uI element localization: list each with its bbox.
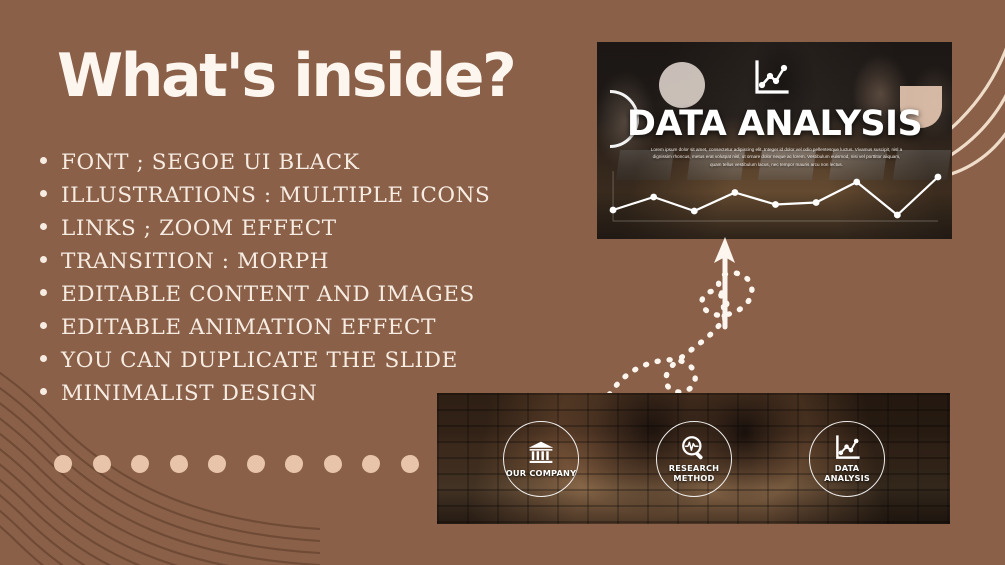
decorative-dot xyxy=(93,455,111,473)
decorative-dot xyxy=(285,455,303,473)
decorative-dot xyxy=(170,455,188,473)
bullet-dot-icon xyxy=(40,388,47,395)
decorative-dot xyxy=(131,455,149,473)
feature-bullet-list: FONT ; SEGOE UI BLACK ILLUSTRATIONS : MU… xyxy=(40,152,600,416)
bullet-dot-icon xyxy=(40,157,47,164)
magnifier-pulse-icon xyxy=(680,434,708,462)
line-chart xyxy=(605,165,946,233)
decorative-dot xyxy=(401,455,419,473)
list-item-label: ILLUSTRATIONS : MULTIPLE ICONS xyxy=(61,185,490,207)
list-item-label: FONT ; SEGOE UI BLACK xyxy=(61,152,360,174)
decorative-dot xyxy=(54,455,72,473)
sections-slide-preview[interactable]: OUR COMPANY RESEARCH METHOD DATA ANALYSI… xyxy=(437,393,950,524)
badge-data-analysis[interactable]: DATA ANALYSIS xyxy=(809,421,885,497)
list-item-label: EDITABLE ANIMATION EFFECT xyxy=(61,317,436,339)
decorative-dot xyxy=(324,455,342,473)
bullet-dot-icon xyxy=(40,322,47,329)
bank-icon xyxy=(527,439,555,467)
decorative-dot xyxy=(247,455,265,473)
list-item-label: LINKS ; ZOOM EFFECT xyxy=(61,218,337,240)
bullet-dot-icon xyxy=(40,256,47,263)
chart-line-icon xyxy=(751,58,791,98)
bullet-dot-icon xyxy=(40,190,47,197)
decorative-dot xyxy=(362,455,380,473)
data-analysis-slide-preview[interactable]: DATA ANALYSIS Lorem ipsum dolor sit amet… xyxy=(597,42,952,239)
badge-our-company[interactable]: OUR COMPANY xyxy=(503,421,579,497)
badge-research-method[interactable]: RESEARCH METHOD xyxy=(656,421,732,497)
list-item-label: EDITABLE CONTENT AND IMAGES xyxy=(61,284,475,306)
list-item-label: MINIMALIST DESIGN xyxy=(61,383,317,405)
list-item: TRANSITION : MORPH xyxy=(40,251,600,273)
list-item: ILLUSTRATIONS : MULTIPLE ICONS xyxy=(40,185,600,207)
decorative-circle xyxy=(659,62,705,108)
bullet-dot-icon xyxy=(40,223,47,230)
bullet-dot-icon xyxy=(40,289,47,296)
list-item-label: TRANSITION : MORPH xyxy=(61,251,329,273)
dashed-curved-arrow xyxy=(575,215,785,410)
page-title: What's inside? xyxy=(57,46,514,106)
list-item: EDITABLE ANIMATION EFFECT xyxy=(40,317,600,339)
preview-title: DATA ANALYSIS xyxy=(597,104,952,144)
list-item: FONT ; SEGOE UI BLACK xyxy=(40,152,600,174)
list-item-label: YOU CAN DUPLICATE THE SLIDE xyxy=(61,350,458,372)
list-item: EDITABLE CONTENT AND IMAGES xyxy=(40,284,600,306)
badge-label: DATA ANALYSIS xyxy=(824,464,870,483)
preview-overlay: DATA ANALYSIS Lorem ipsum dolor sit amet… xyxy=(597,42,952,239)
badge-label: OUR COMPANY xyxy=(506,469,576,479)
decorative-dot xyxy=(208,455,226,473)
chart-line-icon xyxy=(833,434,861,462)
bullet-dot-icon xyxy=(40,355,47,362)
badge-label: RESEARCH METHOD xyxy=(669,464,720,483)
badge-group: OUR COMPANY RESEARCH METHOD DATA ANALYSI… xyxy=(437,393,950,524)
list-item: LINKS ; ZOOM EFFECT xyxy=(40,218,600,240)
slide-root: { "theme": { "background": "#8a6049", "t… xyxy=(0,0,1005,565)
list-item: YOU CAN DUPLICATE THE SLIDE xyxy=(40,350,600,372)
